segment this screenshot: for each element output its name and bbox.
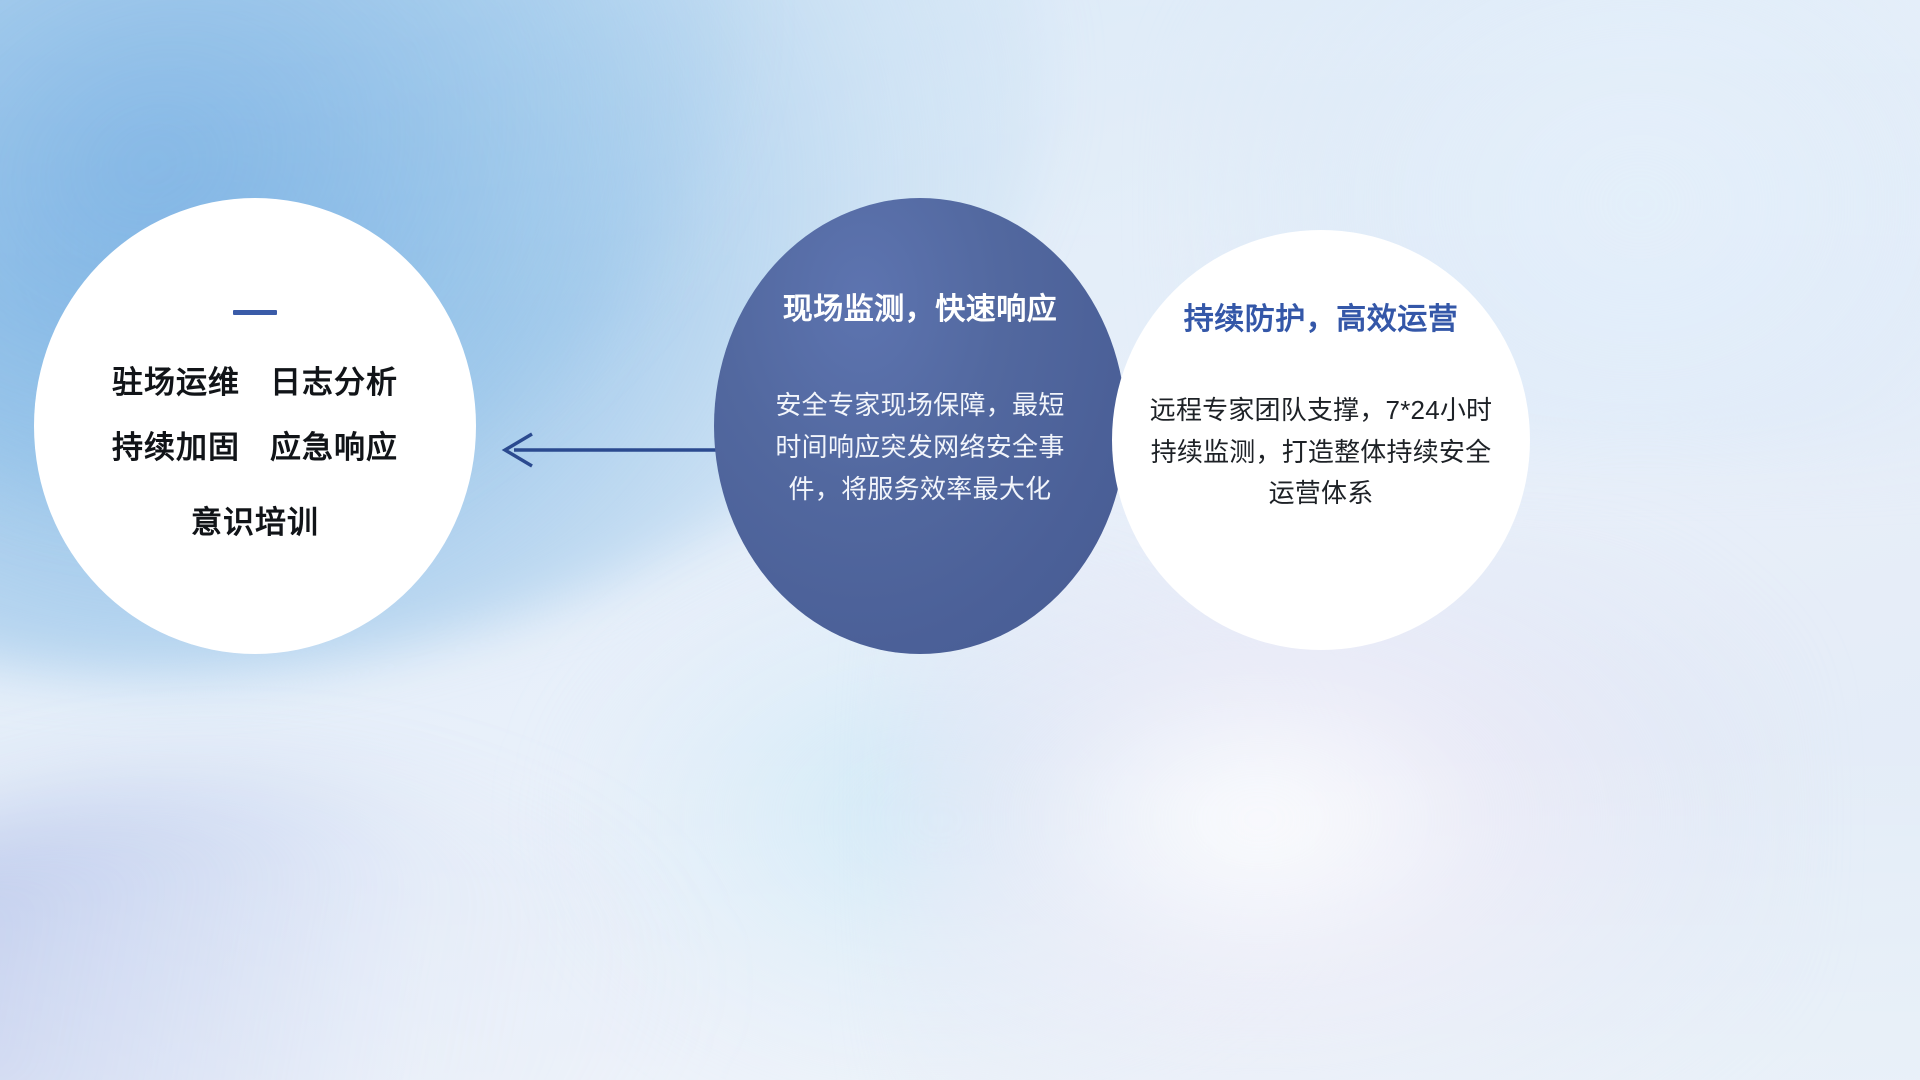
capability-tag-row: 意识培训 [191, 497, 319, 542]
capability-tag-row: 驻场运维 日志分析 [112, 357, 398, 402]
node-body: 安全专家现场保障，最短时间响应突发网络安全事件，将服务效率最大化 [770, 384, 1070, 510]
node-body: 远程专家团队支撑，7*24小时持续监测，打造整体持续安全运营体系 [1138, 390, 1504, 515]
node-onsite-monitoring[interactable]: 现场监测，快速响应 安全专家现场保障，最短时间响应突发网络安全事件，将服务效率最… [714, 198, 1126, 654]
node-continuous-operation[interactable]: 持续防护，高效运营 远程专家团队支撑，7*24小时持续监测，打造整体持续安全运营… [1112, 230, 1530, 650]
capability-tag[interactable]: 日志分析 [270, 357, 398, 402]
node-capabilities[interactable]: 驻场运维 日志分析 持续加固 应急响应 意识培训 [34, 198, 476, 654]
capability-tag[interactable]: 应急响应 [270, 422, 398, 467]
slide-canvas: 驻场运维 日志分析 持续加固 应急响应 意识培训 现场监测，快速响应 安全专家现… [0, 0, 1920, 1080]
capability-tag-list: 驻场运维 日志分析 持续加固 应急响应 意识培训 [112, 357, 398, 542]
node-title: 现场监测，快速响应 [783, 284, 1058, 328]
capability-tag[interactable]: 意识培训 [191, 497, 319, 542]
capability-tag[interactable]: 驻场运维 [112, 357, 240, 402]
capability-tag[interactable]: 持续加固 [112, 422, 240, 467]
divider-dash [233, 310, 277, 315]
capability-tag-row: 持续加固 应急响应 [112, 422, 398, 467]
node-title: 持续防护，高效运营 [1184, 294, 1459, 338]
